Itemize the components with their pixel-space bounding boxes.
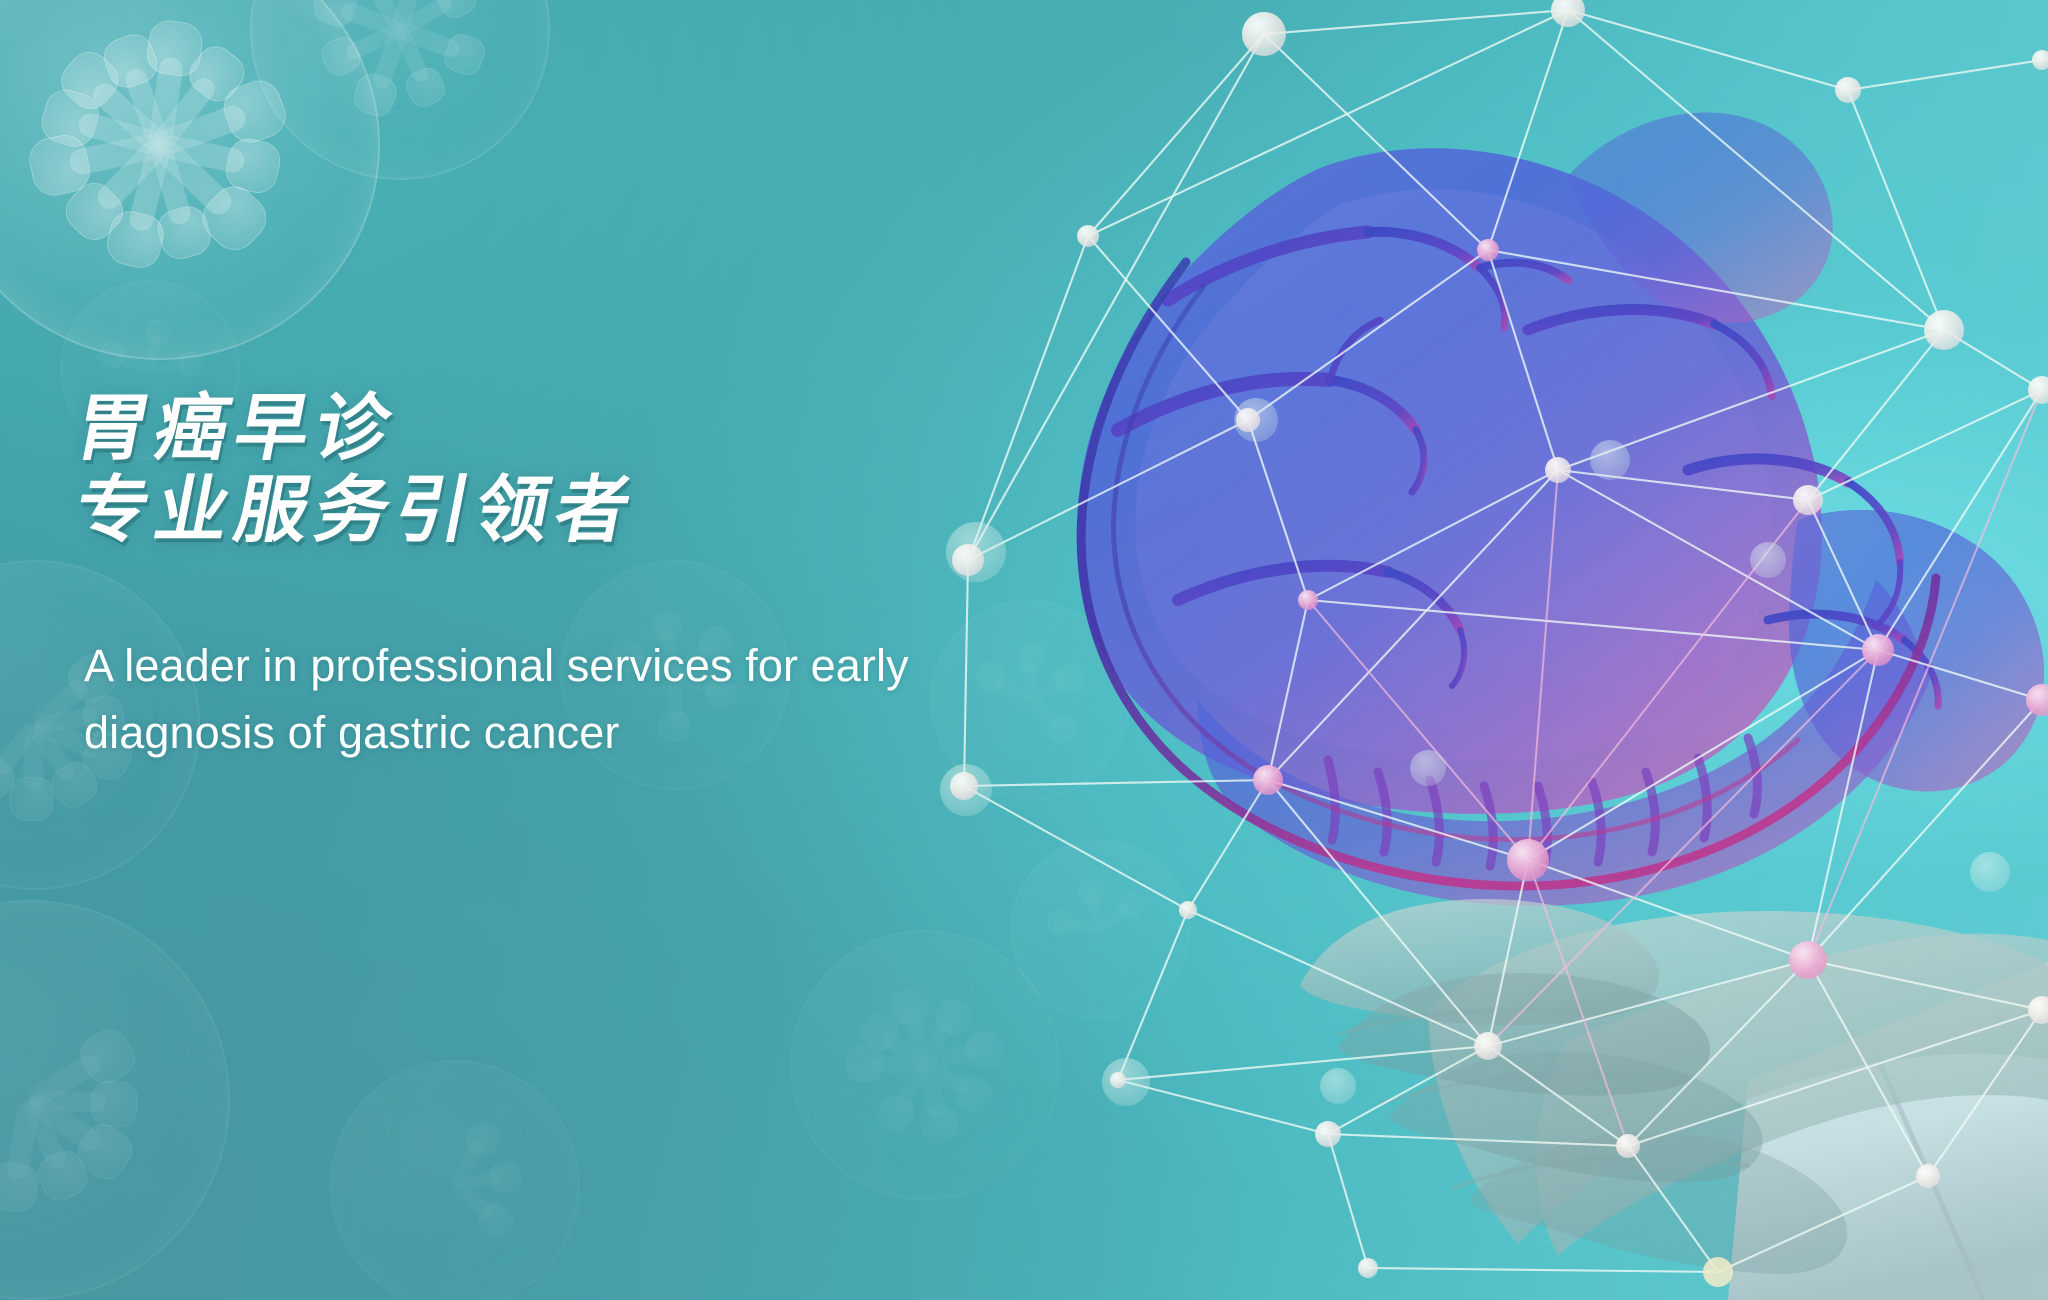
- network-node: [1315, 1121, 1341, 1147]
- headline-line-2: 专业服务引领者: [68, 470, 984, 552]
- network-node: [1253, 765, 1283, 795]
- network-node: [1924, 310, 1964, 350]
- headline-block: 胃癌早诊 专业服务引领者: [76, 388, 976, 552]
- subtitle-line-2: diagnosis of gastric cancer: [84, 699, 944, 766]
- headline-line-1: 胃癌早诊: [68, 388, 984, 470]
- subtitle-block: A leader in professional services for ea…: [84, 632, 944, 766]
- network-node: [1477, 239, 1499, 261]
- network-node: [1236, 408, 1260, 432]
- network-node: [2028, 376, 2048, 404]
- network-node: [1862, 634, 1894, 666]
- network-node: [1110, 1072, 1126, 1088]
- network-node: [1551, 0, 1585, 27]
- network-node: [1179, 901, 1197, 919]
- network-node: [1242, 12, 1286, 56]
- network-node: [1916, 1164, 1940, 1188]
- network-node: [1835, 77, 1861, 103]
- network-node: [1789, 941, 1827, 979]
- network-node: [950, 772, 978, 800]
- banner-root: 胃癌早诊 专业服务引领者 A leader in professional se…: [0, 0, 2048, 1300]
- network-node: [1793, 485, 1823, 515]
- stomach-network-illustration: [868, 0, 2048, 1300]
- virus-particle-icon: [330, 1060, 580, 1300]
- network-node: [1077, 225, 1099, 247]
- network-node: [1358, 1258, 1378, 1278]
- network-node: [1616, 1134, 1640, 1158]
- network-node: [1298, 590, 1318, 610]
- virus-particle-icon: [0, 900, 230, 1300]
- network-node: [1703, 1257, 1733, 1287]
- network-node: [2032, 50, 2048, 70]
- subtitle-line-1: A leader in professional services for ea…: [84, 632, 944, 699]
- network-node: [1507, 839, 1549, 881]
- stomach-organ: [1077, 113, 2045, 906]
- network-node: [1474, 1032, 1502, 1060]
- network-node: [1545, 457, 1571, 483]
